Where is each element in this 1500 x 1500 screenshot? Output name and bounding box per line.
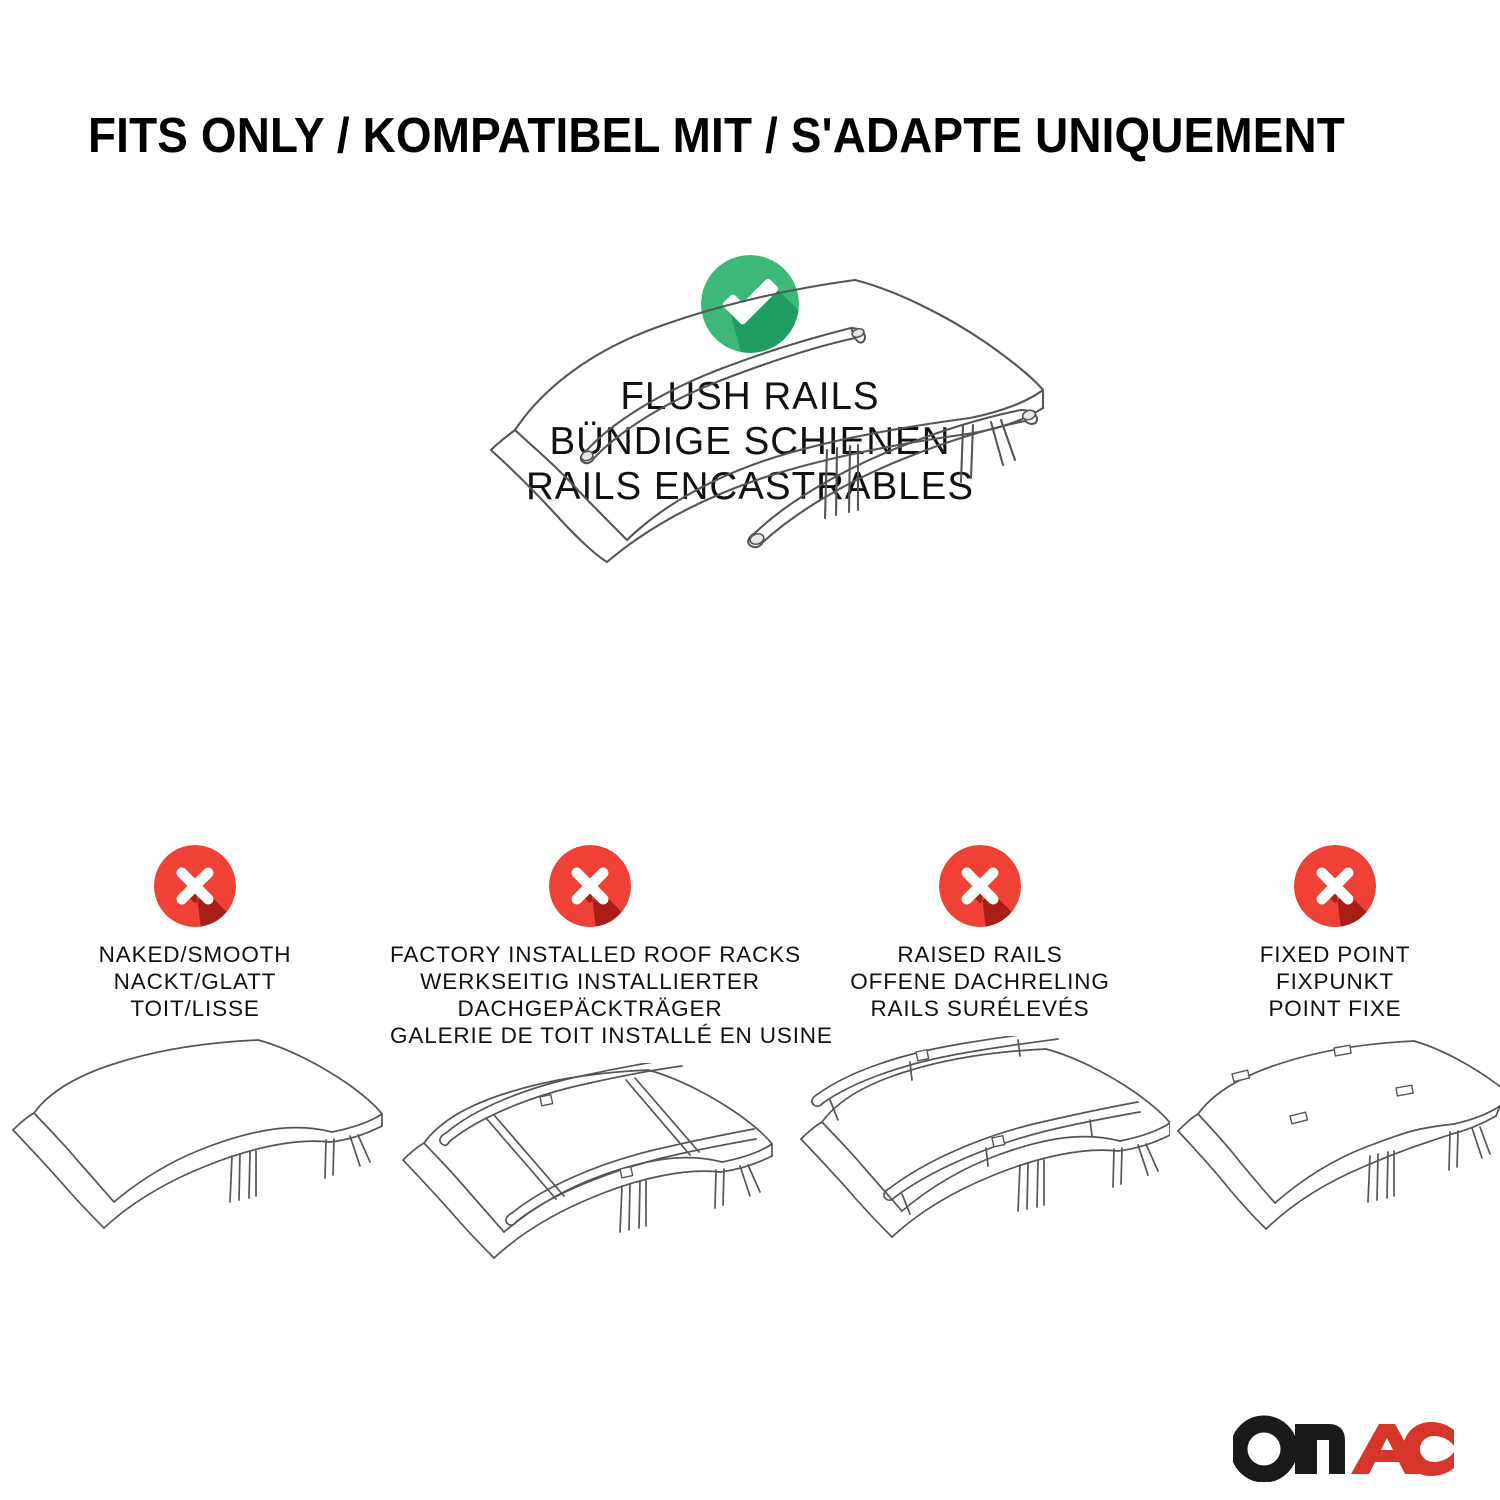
caption-line-fr: POINT FIXE — [1170, 995, 1500, 1022]
incompatible-caption-raised-rails: RAISED RAILS OFFENE DACHRELING RAILS SUR… — [790, 941, 1170, 1022]
car-roof-flush-rails-illustration — [455, 250, 1065, 570]
caption-line-fr: RAILS SURÉLEVÉS — [790, 995, 1170, 1022]
incompatible-item-factory-racks: FACTORY INSTALLED ROOF RACKS WERKSEITIG … — [390, 845, 790, 1288]
caption-line-fr: GALERIE DE TOIT INSTALLÉ EN USINE — [390, 1022, 790, 1049]
incompatible-caption-factory-racks: FACTORY INSTALLED ROOF RACKS WERKSEITIG … — [390, 941, 790, 1049]
cross-badge-wrap-3 — [790, 845, 1170, 932]
incompatible-item-raised-rails: RAISED RAILS OFFENE DACHRELING RAILS SUR… — [790, 845, 1170, 1261]
incompatible-item-naked: NAKED/SMOOTH NACKT/GLATT TOIT/LISSE — [0, 845, 390, 1261]
incompatible-caption-fixed-point: FIXED POINT FIXPUNKT POINT FIXE — [1170, 941, 1500, 1022]
caption-line-de-1: WERKSEITIG INSTALLIERTER — [390, 968, 790, 995]
cross-circle-icon — [154, 845, 236, 927]
cross-badge-wrap-2 — [390, 845, 790, 932]
caption-line-de: NACKT/GLATT — [0, 968, 390, 995]
cross-badge-wrap-4 — [1170, 845, 1500, 932]
caption-line-de: OFFENE DACHRELING — [790, 968, 1170, 995]
caption-line-en: RAISED RAILS — [790, 941, 1170, 968]
caption-line-de: FIXPUNKT — [1170, 968, 1500, 995]
caption-line-en: NAKED/SMOOTH — [0, 941, 390, 968]
car-roof-fixed-point-illustration — [1170, 1036, 1500, 1261]
caption-line-de-2: DACHGEPÄCKTRÄGER — [390, 995, 790, 1022]
cross-circle-icon — [549, 845, 631, 927]
caption-line-en: FACTORY INSTALLED ROOF RACKS — [390, 941, 790, 968]
car-roof-factory-racks-illustration — [390, 1063, 790, 1288]
caption-line-fr: TOIT/LISSE — [0, 995, 390, 1022]
incompatible-item-fixed-point: FIXED POINT FIXPUNKT POINT FIXE — [1170, 845, 1500, 1261]
car-roof-naked-illustration — [0, 1036, 390, 1261]
incompatible-caption-naked: NAKED/SMOOTH NACKT/GLATT TOIT/LISSE — [0, 941, 390, 1022]
caption-line-en: FIXED POINT — [1170, 941, 1500, 968]
cross-circle-icon — [939, 845, 1021, 927]
page-title: FITS ONLY / KOMPATIBEL MIT / S'ADAPTE UN… — [88, 108, 1332, 164]
omac-logo — [1233, 1410, 1455, 1482]
incompatible-section: NAKED/SMOOTH NACKT/GLATT TOIT/LISSE — [0, 845, 1500, 1288]
cross-badge-wrap-1 — [0, 845, 390, 932]
car-roof-raised-rails-illustration — [790, 1036, 1170, 1261]
cross-circle-icon — [1294, 845, 1376, 927]
